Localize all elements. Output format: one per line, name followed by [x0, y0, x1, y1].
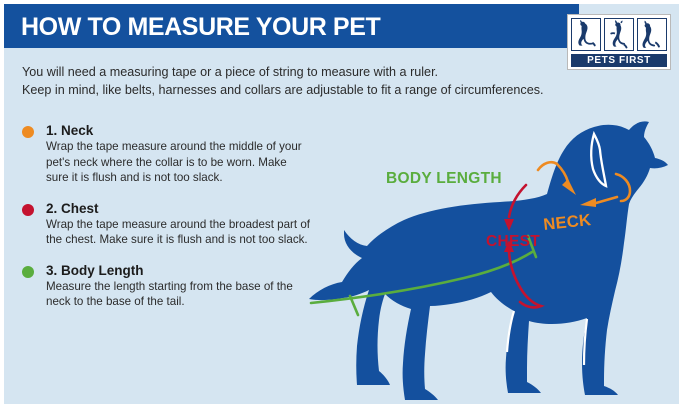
measurement-steps-list: 1. Neck Wrap the tape measure around the… [22, 122, 312, 324]
dog-begging-icon [604, 18, 634, 51]
intro-line-1: You will need a measuring tape or a piec… [22, 63, 582, 81]
bullet-neck-icon [22, 126, 34, 138]
list-item: 2. Chest Wrap the tape measure around th… [22, 200, 312, 248]
step-title: 3. Body Length [46, 262, 312, 279]
intro-line-2: Keep in mind, like belts, harnesses and … [22, 81, 582, 99]
how-to-measure-infographic: HOW TO MEASURE YOUR PET [0, 0, 679, 404]
page-title: HOW TO MEASURE YOUR PET [21, 13, 380, 42]
step-description: Wrap the tape measure around the broades… [46, 217, 312, 248]
brand-logo: PETS FIRST [567, 14, 671, 70]
list-item: 3. Body Length Measure the length starti… [22, 262, 312, 310]
step-title: 1. Neck [46, 122, 312, 139]
logo-wordmark: PETS FIRST [571, 54, 667, 67]
dog-measurement-diagram: BODY LENGTH CHEST NECK [304, 112, 679, 404]
step-title: 2. Chest [46, 200, 312, 217]
bullet-body-length-icon [22, 266, 34, 278]
chest-label: CHEST [486, 233, 540, 250]
dog-silhouette [309, 121, 668, 400]
intro-paragraph: You will need a measuring tape or a piec… [22, 63, 582, 99]
body-length-label: BODY LENGTH [386, 170, 502, 187]
step-description: Measure the length starting from the bas… [46, 279, 312, 310]
step-description: Wrap the tape measure around the middle … [46, 139, 312, 186]
dog-sitting-alert-icon [637, 18, 667, 51]
dog-sitting-icon [571, 18, 601, 51]
list-item: 1. Neck Wrap the tape measure around the… [22, 122, 312, 186]
bullet-chest-icon [22, 204, 34, 216]
